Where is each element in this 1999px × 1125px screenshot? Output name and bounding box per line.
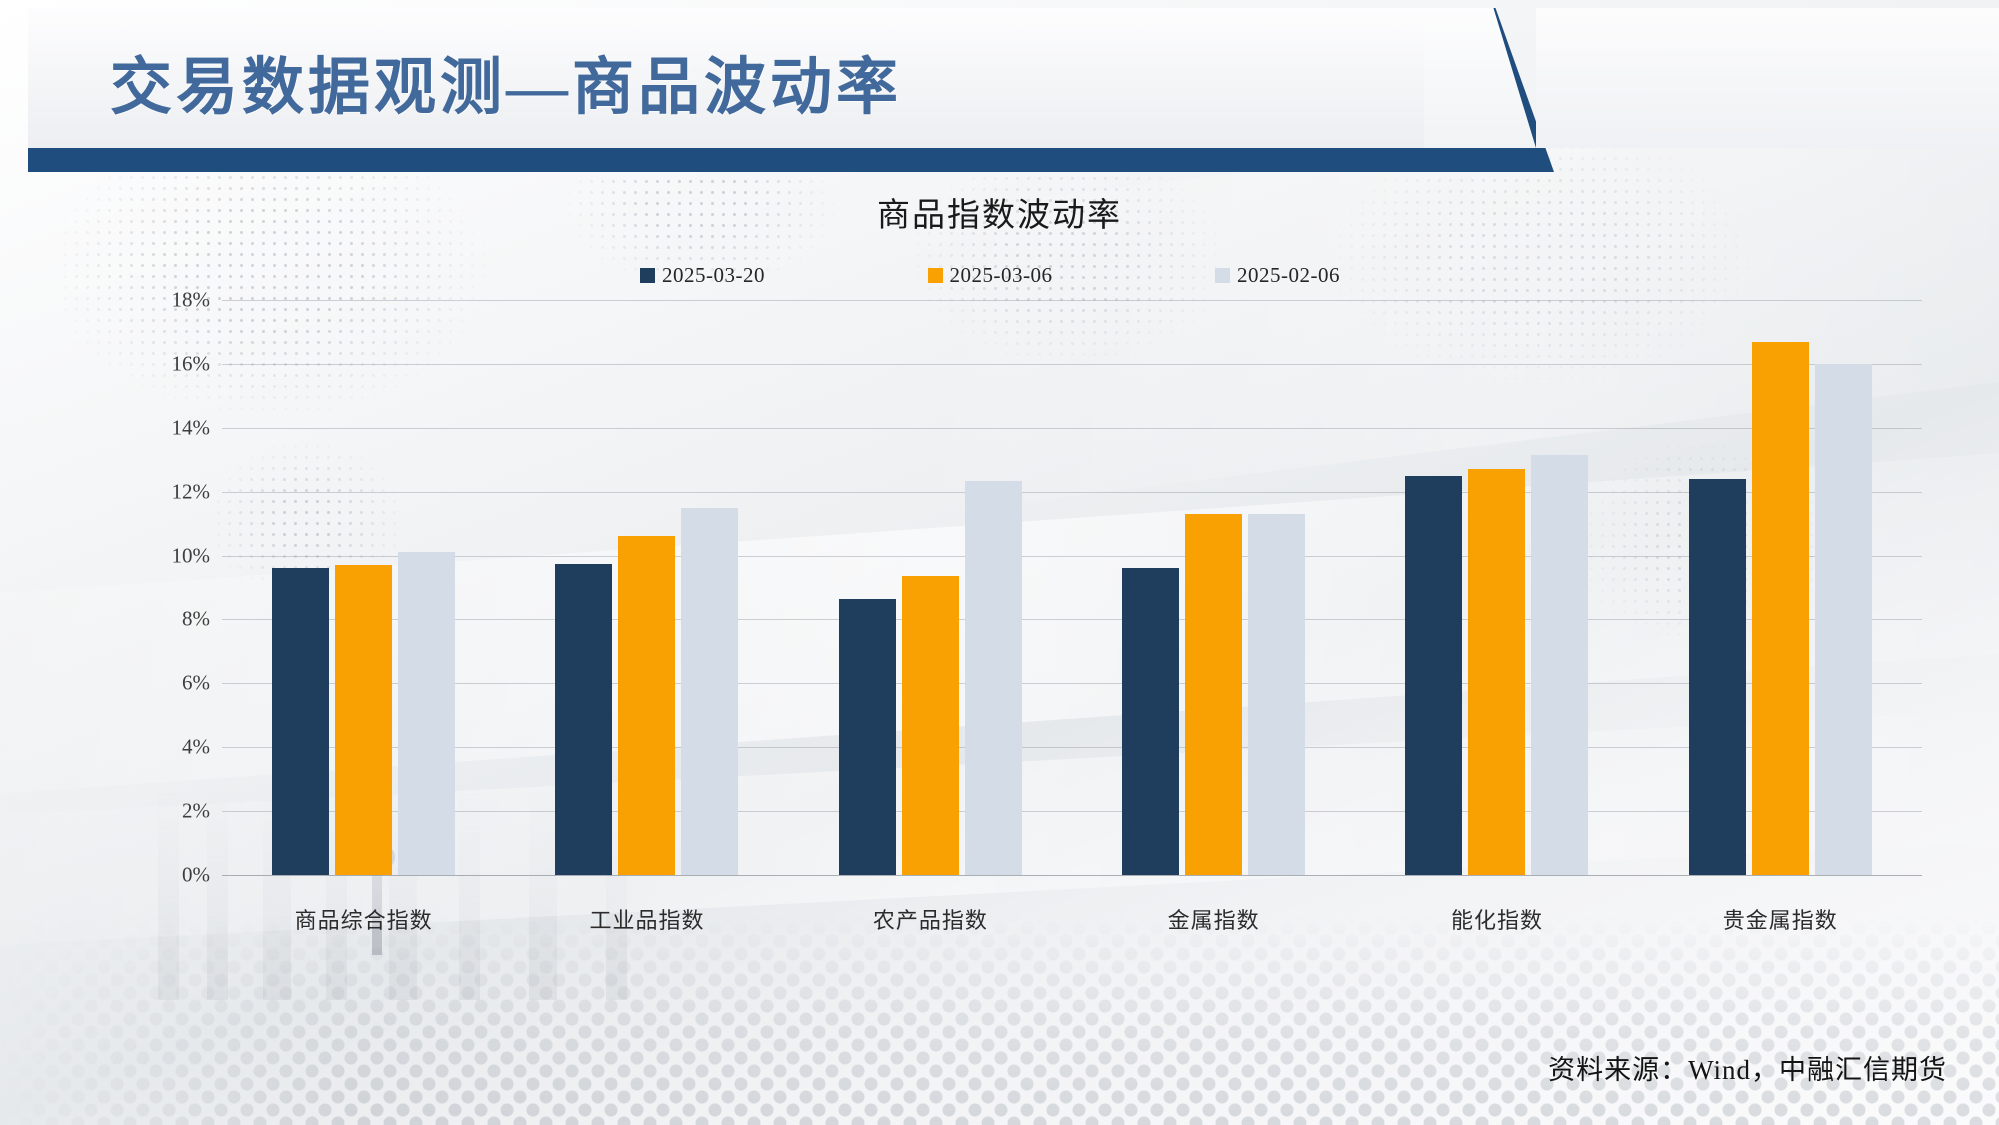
legend-label: 2025-02-06 <box>1237 263 1340 288</box>
chart-legend: 2025-03-202025-03-062025-02-06 <box>640 263 1340 288</box>
source-note: 资料来源：Wind，中融汇信期货 <box>1548 1048 1947 1087</box>
bar[interactable] <box>1405 476 1462 875</box>
legend-item-2[interactable]: 2025-03-06 <box>928 263 1053 288</box>
y-axis-tick-label: 16% <box>90 351 210 376</box>
x-axis-tick-label: 能化指数 <box>1355 903 1638 935</box>
bar[interactable] <box>1122 568 1179 875</box>
legend-swatch-icon <box>640 268 655 283</box>
legend-label: 2025-03-20 <box>662 263 765 288</box>
y-axis-tick-label: 14% <box>90 415 210 440</box>
chart: 商品指数波动率 2025-03-202025-03-062025-02-06 1… <box>0 178 1999 1038</box>
x-axis-tick-label: 农产品指数 <box>789 903 1072 935</box>
bar-group-bars <box>505 300 788 875</box>
gridline <box>222 875 1922 876</box>
bar-group-bars <box>789 300 1072 875</box>
bar[interactable] <box>839 599 896 875</box>
bar[interactable] <box>335 565 392 875</box>
bar[interactable] <box>965 481 1022 876</box>
y-axis-tick-label: 18% <box>90 288 210 313</box>
bar[interactable] <box>1531 455 1588 875</box>
legend-item-1[interactable]: 2025-03-20 <box>640 263 765 288</box>
x-axis-tick-label: 金属指数 <box>1072 903 1355 935</box>
bar[interactable] <box>1185 514 1242 875</box>
legend-item-3[interactable]: 2025-02-06 <box>1215 263 1340 288</box>
bar-group: 农产品指数 <box>789 300 1072 875</box>
plot-area: 18%16%14%12%10%8%6%4%2%0% 商品综合指数工业品指数农产品… <box>222 300 1922 875</box>
legend-swatch-icon <box>928 268 943 283</box>
bar[interactable] <box>1689 479 1746 875</box>
bar-group: 工业品指数 <box>505 300 788 875</box>
legend-label: 2025-03-06 <box>950 263 1053 288</box>
bar-group: 商品综合指数 <box>222 300 505 875</box>
chart-title: 商品指数波动率 <box>0 188 1999 236</box>
bar[interactable] <box>1468 469 1525 875</box>
y-axis-tick-label: 12% <box>90 479 210 504</box>
bar-groups: 商品综合指数工业品指数农产品指数金属指数能化指数贵金属指数 <box>222 300 1922 875</box>
banner-arrow-block <box>1424 8 1554 172</box>
x-axis-tick-label: 工业品指数 <box>505 903 788 935</box>
bar[interactable] <box>1815 364 1872 875</box>
y-axis-tick-label: 10% <box>90 543 210 568</box>
bar-group-bars <box>222 300 505 875</box>
y-axis-tick-label: 0% <box>90 863 210 888</box>
bar-group-bars <box>1639 300 1922 875</box>
banner-tail <box>1536 8 1999 148</box>
bar-group: 能化指数 <box>1355 300 1638 875</box>
slide-root: 交易数据观测—商品波动率 商品指数波动率 2025-03-202025-03-0… <box>0 0 1999 1125</box>
page-title: 交易数据观测—商品波动率 <box>110 36 902 126</box>
legend-swatch-icon <box>1215 268 1230 283</box>
bar[interactable] <box>272 568 329 875</box>
bar[interactable] <box>618 536 675 875</box>
y-axis-tick-label: 8% <box>90 607 210 632</box>
bar[interactable] <box>681 508 738 875</box>
bar-group: 金属指数 <box>1072 300 1355 875</box>
bar[interactable] <box>1248 514 1305 875</box>
bar[interactable] <box>555 564 612 875</box>
bar[interactable] <box>902 576 959 875</box>
y-axis-tick-label: 4% <box>90 735 210 760</box>
x-axis-tick-label: 商品综合指数 <box>222 903 505 935</box>
banner-arrow-inner-fill <box>1424 8 1536 148</box>
x-axis-tick-label: 贵金属指数 <box>1639 903 1922 935</box>
bar-group-bars <box>1355 300 1638 875</box>
bar[interactable] <box>1752 342 1809 875</box>
bar-group-bars <box>1072 300 1355 875</box>
y-axis-tick-label: 6% <box>90 671 210 696</box>
bar[interactable] <box>398 552 455 875</box>
bar-group: 贵金属指数 <box>1639 300 1922 875</box>
y-axis-tick-label: 2% <box>90 799 210 824</box>
banner-underline <box>28 148 1424 172</box>
